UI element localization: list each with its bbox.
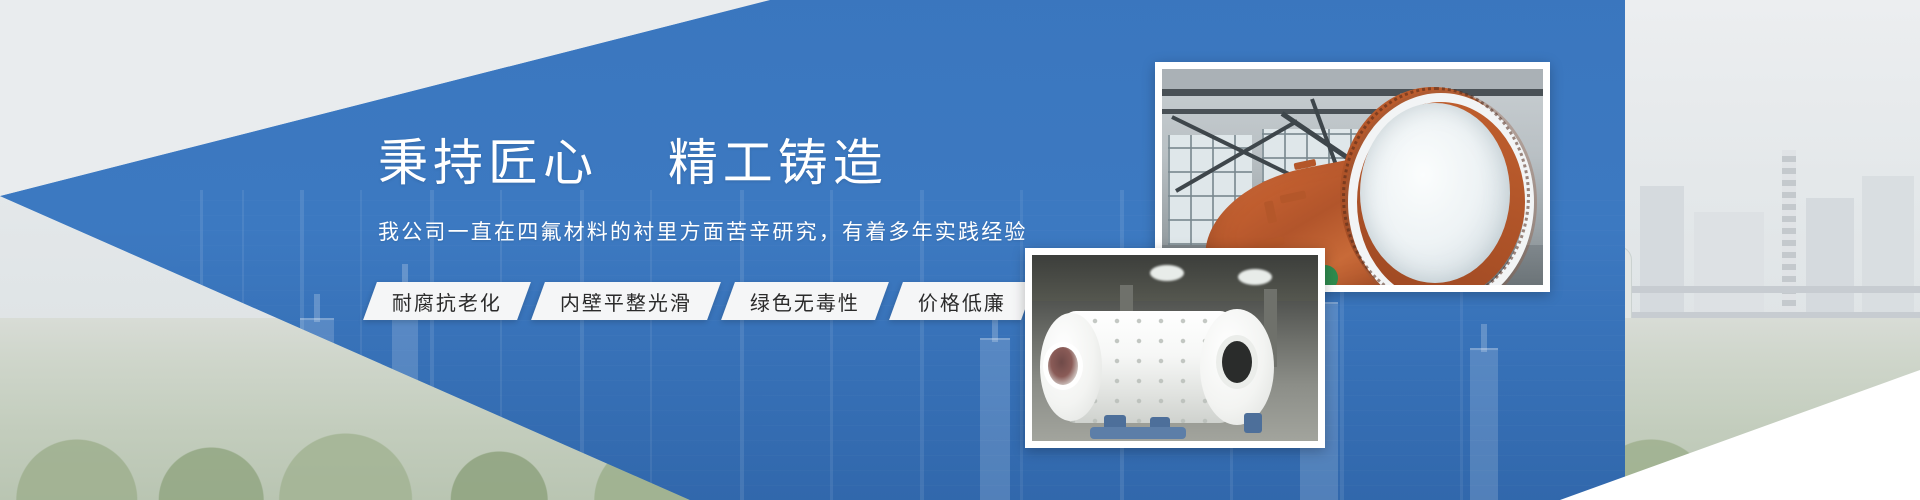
tank-nozzle-port [1222, 341, 1252, 383]
banner-subtitle: 我公司一直在四氟材料的衬里方面苦辛研究，有着多年实践经验 [378, 222, 1028, 243]
ptfe-lined-interior [1360, 103, 1510, 283]
feature-tag-3[interactable]: 绿色无毒性 [721, 282, 889, 320]
photo-frame-inner [1032, 255, 1318, 441]
ceiling-light-icon [1150, 265, 1184, 281]
feature-tag-4[interactable]: 价格低廉 [889, 282, 1035, 320]
feature-tag-list: 耐腐抗老化 内壁平整光滑 绿色无毒性 价格低廉 [370, 282, 1042, 320]
feature-tag-2[interactable]: 内壁平整光滑 [531, 282, 721, 320]
feature-tag-4-label: 价格低廉 [918, 287, 1006, 316]
roof-beam [1162, 89, 1543, 96]
tank-base-skid [1090, 427, 1186, 439]
feature-tag-1[interactable]: 耐腐抗老化 [363, 282, 531, 320]
feature-tag-2-label: 内壁平整光滑 [560, 287, 692, 316]
feature-tag-3-label: 绿色无毒性 [750, 287, 860, 316]
banner-headline: 秉持匠心 精工铸造 [378, 138, 888, 188]
banner-content: 秉持匠心 精工铸造 我公司一直在四氟材料的衬里方面苦辛研究，有着多年实践经验 耐… [0, 0, 1920, 500]
white-lined-storage-tank-photo [1025, 248, 1325, 448]
hero-banner: 秉持匠心 精工铸造 我公司一直在四氟材料的衬里方面苦辛研究，有着多年实践经验 耐… [0, 0, 1920, 500]
tank-support-leg [1244, 413, 1262, 433]
feature-tag-1-label: 耐腐抗老化 [392, 287, 502, 316]
tank-manhole [1048, 347, 1078, 385]
headline-part-2: 精工铸造 [668, 134, 888, 192]
ceiling-light-icon [1238, 269, 1272, 285]
headline-part-1: 秉持匠心 [378, 134, 598, 192]
